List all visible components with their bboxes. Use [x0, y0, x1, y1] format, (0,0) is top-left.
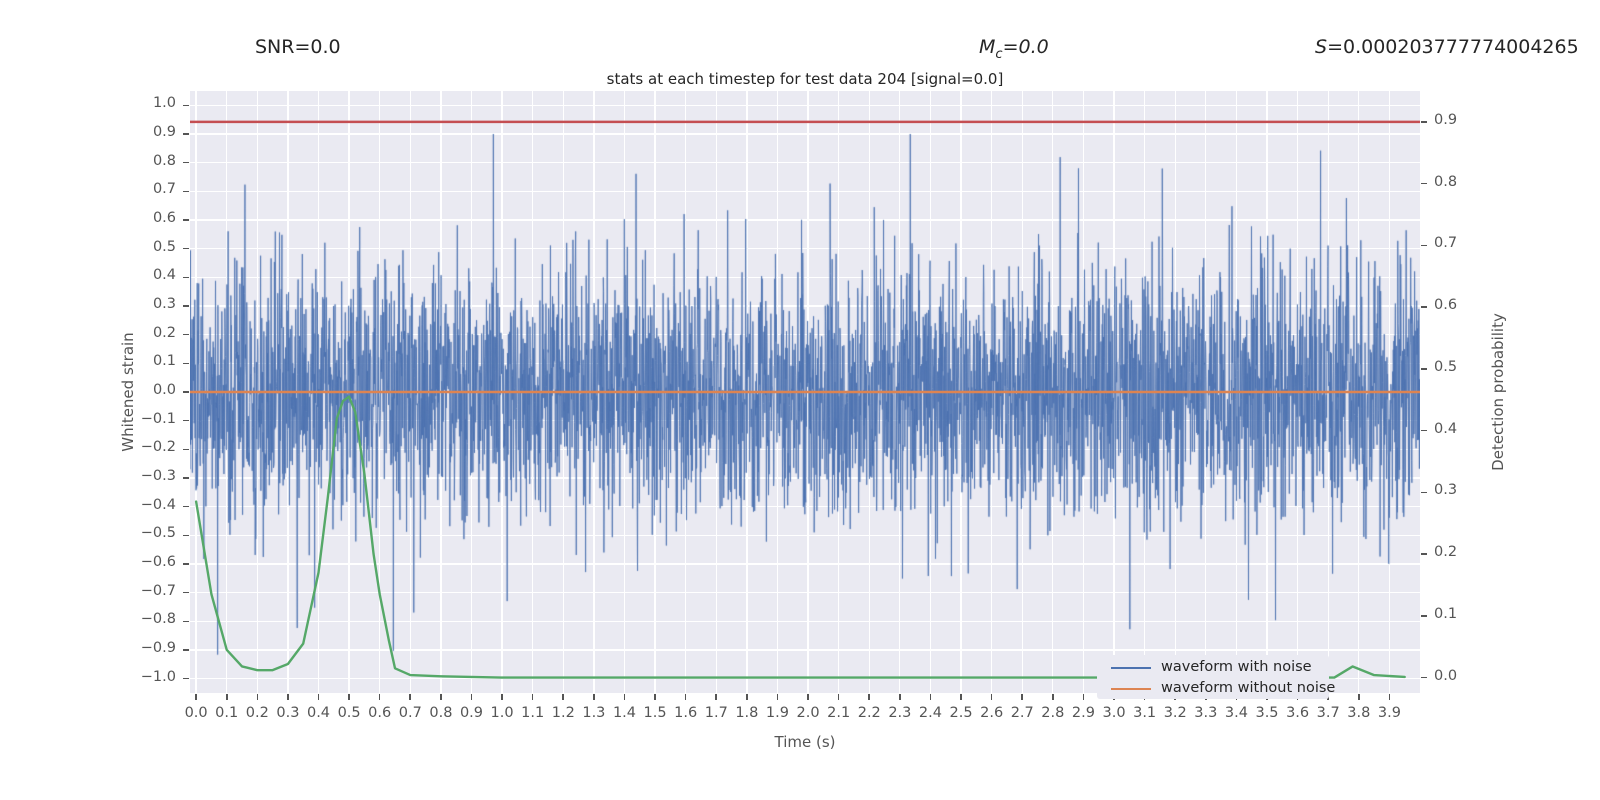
x-tick	[960, 694, 962, 700]
y-tick-label-left: −0.7	[124, 583, 176, 599]
x-tick	[379, 694, 381, 700]
suptitle-s-symbol: S	[1315, 36, 1327, 58]
y-tick-left	[183, 133, 189, 135]
y-tick-left	[183, 420, 189, 422]
suptitle-statistic: S=0.000203777774004265	[1315, 36, 1579, 58]
x-tick	[287, 694, 289, 700]
x-tick	[807, 694, 809, 700]
y-tick-label-right: 0.4	[1434, 421, 1486, 437]
y-tick-label-left: 0.9	[124, 124, 176, 140]
x-tick	[715, 694, 717, 700]
y-tick-left	[183, 477, 189, 479]
y-tick-label-left: 0.7	[124, 181, 176, 197]
y-tick-label-left: −0.4	[124, 497, 176, 513]
suptitle-mc-value: =0.0	[1003, 36, 1049, 58]
overlay-series-layer	[190, 91, 1420, 693]
y-tick-label-right: 0.9	[1434, 112, 1486, 128]
y-tick-left	[183, 649, 189, 651]
y-tick-label-left: 0.6	[124, 210, 176, 226]
y-tick-label-right: 0.1	[1434, 606, 1486, 622]
y-tick-label-right: 0.0	[1434, 668, 1486, 684]
x-tick	[348, 694, 350, 700]
y-tick-label-left: −0.6	[124, 554, 176, 570]
suptitle-chirp-mass: Mc=0.0	[979, 36, 1049, 62]
y-axis-label-left: Whitened strain	[119, 332, 137, 451]
axes-title: stats at each timestep for test data 204…	[190, 70, 1420, 88]
x-tick	[532, 694, 534, 700]
y-tick-left	[183, 105, 189, 107]
y-tick-left	[183, 621, 189, 623]
x-tick	[1083, 694, 1085, 700]
x-tick	[409, 694, 411, 700]
x-tick	[318, 694, 320, 700]
y-tick-right	[1421, 492, 1427, 494]
x-tick	[654, 694, 656, 700]
y-tick-right	[1421, 245, 1427, 247]
y-tick-label-left: 0.8	[124, 153, 176, 169]
y-tick-label-right: 0.3	[1434, 482, 1486, 498]
y-tick-left	[183, 449, 189, 451]
x-tick	[838, 694, 840, 700]
x-tick	[746, 694, 748, 700]
x-tick	[501, 694, 503, 700]
x-tick	[868, 694, 870, 700]
x-tick	[991, 694, 993, 700]
x-tick	[624, 694, 626, 700]
x-tick	[1021, 694, 1023, 700]
legend-swatch-line	[1111, 688, 1151, 690]
x-tick	[593, 694, 595, 700]
y-tick-left	[183, 305, 189, 307]
y-tick-left	[183, 219, 189, 221]
x-tick	[1052, 694, 1054, 700]
y-tick-left	[183, 535, 189, 537]
suptitle-s-value: =0.000203777774004265	[1327, 36, 1579, 58]
y-tick-left	[183, 391, 189, 393]
detection-probability-line	[196, 397, 1405, 678]
x-tick	[562, 694, 564, 700]
x-tick	[226, 694, 228, 700]
y-tick-label-left: −0.3	[124, 468, 176, 484]
y-axis-label-right: Detection probability	[1489, 313, 1507, 471]
x-tick	[257, 694, 259, 700]
suptitle-mc-symbol: M	[979, 36, 995, 58]
y-tick-right	[1421, 677, 1427, 679]
x-axis-label: Time (s)	[190, 733, 1420, 751]
y-tick-left	[183, 277, 189, 279]
y-tick-label-left: −0.5	[124, 525, 176, 541]
x-tick	[930, 694, 932, 700]
chart-legend[interactable]: waveform with noisewaveform without nois…	[1097, 655, 1329, 699]
y-tick-label-left: 0.4	[124, 267, 176, 283]
y-tick-label-right: 0.8	[1434, 174, 1486, 190]
y-tick-right	[1421, 121, 1427, 123]
x-tick	[777, 694, 779, 700]
y-tick-left	[183, 563, 189, 565]
suptitle-snr: SNR=0.0	[255, 36, 341, 58]
y-tick-left	[183, 678, 189, 680]
y-tick-label-left: 0.3	[124, 296, 176, 312]
y-tick-label-right: 0.5	[1434, 359, 1486, 375]
legend-label: waveform without noise	[1161, 680, 1335, 696]
y-tick-label-left: 0.5	[124, 239, 176, 255]
y-tick-label-left: −0.8	[124, 611, 176, 627]
suptitle-mc-subscript: c	[995, 47, 1002, 62]
y-tick-right	[1421, 183, 1427, 185]
matplotlib-figure: SNR=0.0 Mc=0.0 S=0.000203777774004265 st…	[0, 0, 1600, 800]
x-tick	[685, 694, 687, 700]
y-tick-right	[1421, 553, 1427, 555]
x-tick	[471, 694, 473, 700]
y-tick-label-right: 0.6	[1434, 297, 1486, 313]
plot-axes	[190, 91, 1420, 693]
y-tick-left	[183, 363, 189, 365]
x-tick-label: 3.9	[1364, 705, 1414, 721]
legend-item[interactable]: waveform with noise	[1097, 657, 1329, 679]
y-tick-label-left: 1.0	[124, 95, 176, 111]
y-tick-label-left: −0.9	[124, 640, 176, 656]
x-tick	[195, 694, 197, 700]
y-tick-left	[183, 248, 189, 250]
y-tick-label-right: 0.2	[1434, 544, 1486, 560]
y-tick-left	[183, 162, 189, 164]
x-tick	[899, 694, 901, 700]
y-tick-left	[183, 191, 189, 193]
legend-item[interactable]: waveform without noise	[1097, 678, 1329, 700]
y-tick-right	[1421, 615, 1427, 617]
legend-label: waveform with noise	[1161, 659, 1312, 675]
legend-swatch-line	[1111, 667, 1151, 669]
y-tick-right	[1421, 306, 1427, 308]
y-tick-label-left: −1.0	[124, 669, 176, 685]
y-tick-right	[1421, 368, 1427, 370]
x-tick	[440, 694, 442, 700]
figure-suptitle-row: SNR=0.0 Mc=0.0 S=0.000203777774004265	[0, 36, 1600, 62]
x-tick	[1358, 694, 1360, 700]
y-tick-left	[183, 506, 189, 508]
y-tick-right	[1421, 430, 1427, 432]
y-tick-left	[183, 592, 189, 594]
y-tick-label-right: 0.7	[1434, 235, 1486, 251]
y-tick-left	[183, 334, 189, 336]
x-tick	[1389, 694, 1391, 700]
